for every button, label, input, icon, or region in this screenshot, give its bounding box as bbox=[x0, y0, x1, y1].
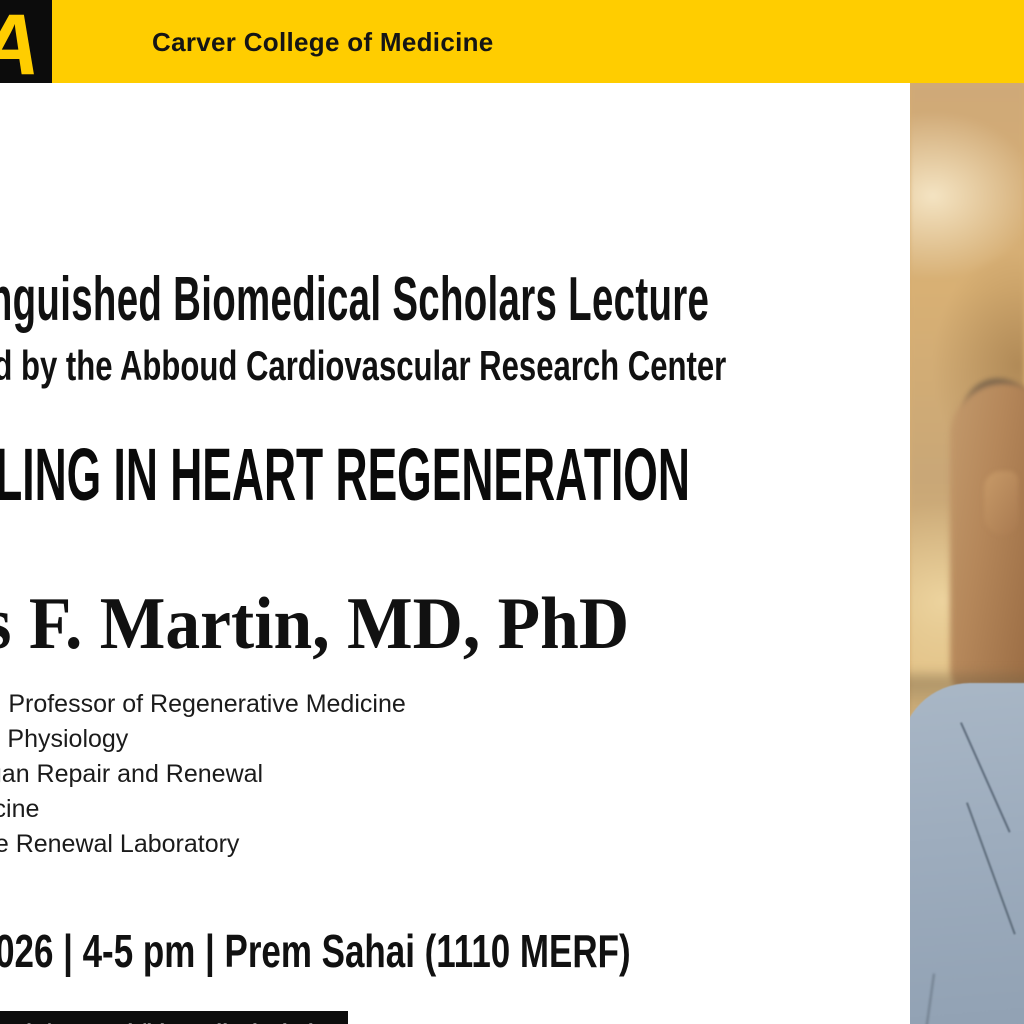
affiliation-line: Vivian L. Smith Chair in Professor of Re… bbox=[0, 687, 902, 722]
speaker-name: James F. Martin, MD, PhD bbox=[0, 587, 629, 661]
website-url-bar[interactable]: medicine.uiowa.edu/research/biomedicalsc… bbox=[0, 1011, 348, 1024]
lecture-series-name: Distinguished Biomedical Scholars Lectur… bbox=[0, 269, 709, 331]
poster-content: Distinguished Biomedical Scholars Lectur… bbox=[0, 83, 910, 1024]
photo-ear-region bbox=[984, 471, 1018, 535]
lecture-poster: Carver College of Medicine A Distinguish… bbox=[0, 0, 1024, 1024]
talk-title: HIPPO SIGNALING IN HEART REGENERATION bbox=[0, 438, 690, 512]
affiliation-line: Texas Heart Institute bbox=[0, 862, 902, 897]
photo-head-region bbox=[950, 383, 1024, 713]
iowa-block-a-icon: A bbox=[0, 2, 38, 88]
affiliation-line: Professor of Integrative Physiology bbox=[0, 722, 902, 757]
lecture-series-sponsor: Sponsored by the Abboud Cardiovascular R… bbox=[0, 345, 726, 387]
affiliation-line: Director, Center for Organ Repair and Re… bbox=[0, 757, 902, 792]
college-title: Carver College of Medicine bbox=[152, 27, 494, 58]
affiliation-line: Baylor College of Medicine bbox=[0, 792, 902, 827]
header-band: Carver College of Medicine bbox=[52, 0, 1024, 83]
affiliation-line: Director, Cardiomyocyte Renewal Laborato… bbox=[0, 827, 902, 862]
speaker-affiliations: Vivian L. Smith Chair in Professor of Re… bbox=[0, 687, 902, 897]
speaker-photo bbox=[910, 83, 1024, 1024]
event-date-time-location: February 12, 2026 | 4-5 pm | Prem Sahai … bbox=[0, 928, 631, 974]
